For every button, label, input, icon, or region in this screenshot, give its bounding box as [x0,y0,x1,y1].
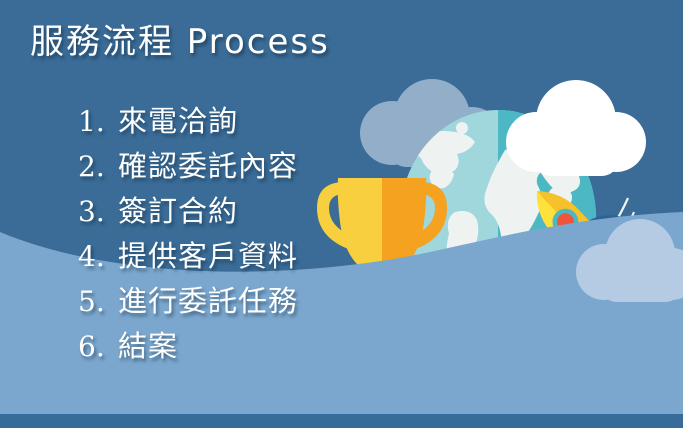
step-number: 3. [78,195,118,228]
step-number: 2. [78,150,118,183]
step-label: 進行委託任務 [118,278,298,320]
list-item: 4. 提供客戶資料 [78,233,298,278]
step-label: 確認委託內容 [118,143,298,185]
step-number: 1. [78,105,118,138]
step-label: 提供客戶資料 [118,233,298,275]
step-label: 來電洽詢 [118,98,238,140]
step-number: 5. [78,285,118,318]
process-step-list: 1. 來電洽詢 2. 確認委託內容 3. 簽訂合約 4. 提供客戶資料 5. 進… [78,98,298,368]
list-item: 6. 結案 [78,323,298,368]
page-title: 服務流程 Process [30,20,330,64]
step-label: 簽訂合約 [118,188,238,230]
step-label: 結案 [118,323,178,365]
text-content: 服務流程 Process 1. 來電洽詢 2. 確認委託內容 3. 簽訂合約 4… [0,0,683,428]
step-number: 4. [78,240,118,273]
process-banner: 服務流程 Process 1. 來電洽詢 2. 確認委託內容 3. 簽訂合約 4… [0,0,683,428]
list-item: 1. 來電洽詢 [78,98,298,143]
list-item: 2. 確認委託內容 [78,143,298,188]
list-item: 5. 進行委託任務 [78,278,298,323]
list-item: 3. 簽訂合約 [78,188,298,233]
step-number: 6. [78,330,118,363]
